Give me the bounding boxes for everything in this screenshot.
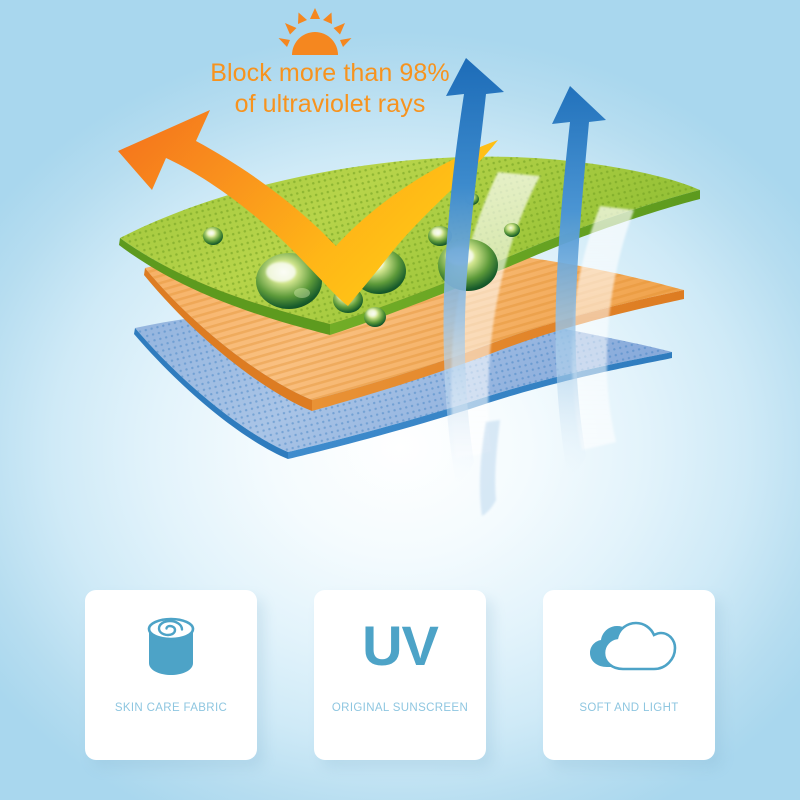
feature-card-skin-care-fabric[interactable]: SKIN CARE FABRIC — [85, 590, 257, 760]
sun-icon — [278, 8, 352, 58]
clouds-icon — [577, 590, 681, 702]
feature-card-label: SKIN CARE FABRIC — [115, 702, 227, 714]
feature-card-label: SOFT AND LIGHT — [579, 702, 678, 714]
uv-label: UV — [362, 618, 438, 674]
feature-card-original-sunscreen[interactable]: UV ORIGINAL SUNSCREEN — [314, 590, 486, 760]
feature-cards: SKIN CARE FABRIC UV ORIGINAL SUNSCREEN S… — [85, 590, 715, 760]
feature-card-soft-and-light[interactable]: SOFT AND LIGHT — [543, 590, 715, 760]
fabric-roll-icon — [135, 590, 207, 702]
infographic-canvas: Block more than 98% of ultraviolet rays … — [0, 0, 800, 800]
page-title: Block more than 98% of ultraviolet rays — [0, 58, 660, 119]
feature-card-label: ORIGINAL SUNSCREEN — [332, 702, 468, 714]
uv-text-icon: UV — [362, 590, 438, 702]
